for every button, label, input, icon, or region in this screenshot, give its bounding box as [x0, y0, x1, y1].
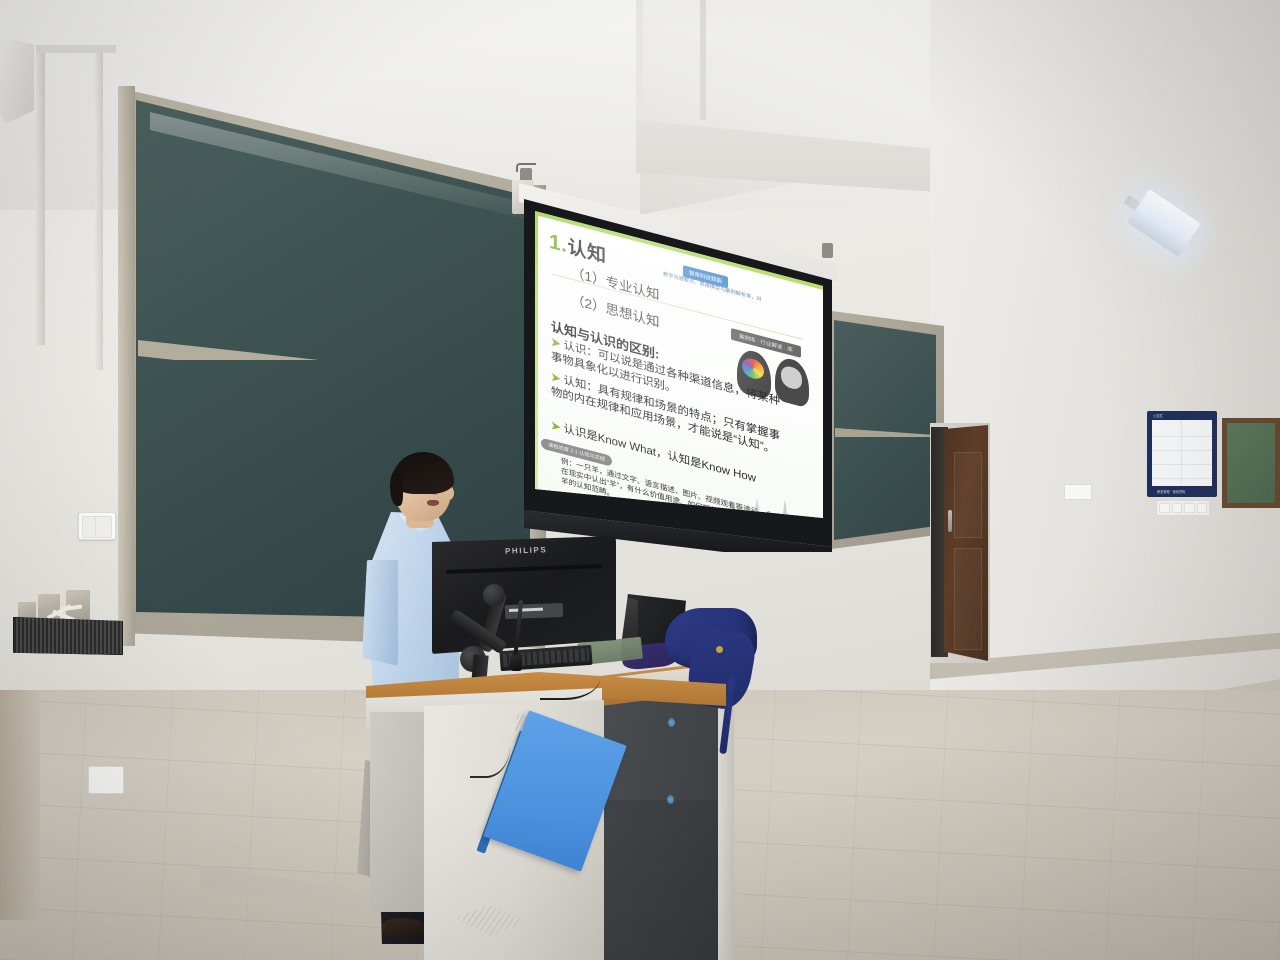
presenter-mouth [427, 500, 439, 506]
arrow-bullet-icon-2: ➤ [551, 371, 561, 385]
wall-switch-panel[interactable] [1156, 500, 1210, 516]
ceiling-beam-2 [700, 0, 706, 120]
door-panel-upper [954, 452, 982, 538]
wall-bulletin-board [1222, 418, 1280, 508]
microphone-head[interactable] [510, 655, 522, 671]
wall-power-outlet[interactable] [88, 766, 124, 794]
notice-board-header: 公告栏 [1153, 413, 1163, 418]
wall-trim-horizontal [36, 45, 116, 53]
blackboard-frame-left [118, 86, 135, 646]
presenter-sleeve [362, 560, 398, 666]
gear-brain-icon [781, 364, 802, 391]
monitor-vesa-plate [505, 603, 563, 619]
switch-1[interactable] [1159, 503, 1170, 513]
monitor-brand-label: PHILIPS [505, 545, 548, 556]
arrow-bullet-icon-3: ➤ [551, 420, 561, 434]
classroom-scene: 1.认知 智库科技赋能 教学沟通要点、思维模型与案例解析等，对 案例库 · 行业… [0, 0, 1280, 960]
wall-power-outlet-right[interactable] [1064, 484, 1092, 500]
colorful-brain-icon [742, 356, 764, 381]
wall-light-switch[interactable] [78, 512, 116, 540]
side-cabinet-door[interactable] [600, 800, 718, 960]
presenter-hair-side [390, 470, 403, 506]
presenter-shoe [382, 918, 426, 938]
screen-bracket-right [822, 243, 833, 258]
switch-2[interactable] [1172, 503, 1183, 513]
wall-notice-board[interactable]: 公告栏 教室管理 · 使用须知 [1147, 411, 1217, 497]
arrow-bullet-icon: ➤ [551, 336, 561, 350]
lectern-left-side [370, 712, 428, 912]
slide-title-number: 1. [549, 230, 568, 257]
door-panel-lower [954, 548, 982, 650]
wall-trim-vertical [36, 45, 45, 345]
switch-3[interactable] [1184, 503, 1195, 513]
notice-board-footer: 教室管理 · 使用须知 [1157, 489, 1185, 494]
door-handle[interactable] [948, 510, 952, 532]
monitor-arm-joint[interactable] [483, 584, 505, 606]
wall-trim-vertical-2 [95, 50, 103, 370]
wall-speaker-left-icon [0, 38, 34, 124]
cabinet-lock-lower[interactable] [667, 795, 674, 804]
switch-4[interactable] [1197, 503, 1208, 513]
bulletin-board-surface [1227, 423, 1275, 503]
slide-left-accent [535, 211, 538, 520]
right-wall [930, 0, 1280, 800]
chalk-tray [13, 617, 123, 655]
notice-board-paper [1152, 420, 1212, 486]
wall-corner-left [0, 690, 40, 920]
cabinet-lock-upper[interactable] [668, 718, 675, 727]
garment-button [716, 646, 723, 653]
